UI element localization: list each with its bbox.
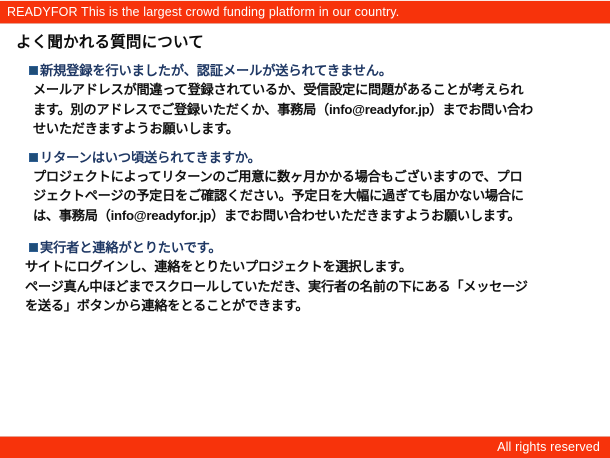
faq-answer-line: ページ真ん中ほどまでスクロールしていただき、実行者の名前の下にある「メッセージ	[25, 277, 598, 297]
faq-answer-line: サイトにログインし、連絡をとりたいプロジェクトを選択します。	[25, 257, 598, 277]
faq-answer-line: を送る」ボタンから連絡をとることができます。	[25, 296, 598, 316]
faq-answer: メールアドレスが間違って登録されているか、受信設定に問題があることが考えられます…	[0, 80, 610, 139]
faq-answer: プロジェクトによってリターンのご用意に数ヶ月かかる場合もございますので、プロジェ…	[0, 167, 610, 226]
faq-answer-line: ジェクトページの予定日をご確認ください。予定日を大幅に過ぎても届かない場合に	[33, 186, 592, 206]
top-banner-text: READYFOR This is the largest crowd fundi…	[0, 6, 399, 19]
copyright-text: All rights reserved	[497, 441, 610, 454]
faq-question: 実行者と連絡がとりたいです。	[0, 239, 610, 257]
faq-question-text: 実行者と連絡がとりたいです。	[40, 239, 222, 257]
faq-item: 実行者と連絡がとりたいです。サイトにログインし、連絡をとりたいプロジェクトを選択…	[0, 239, 610, 316]
faq-question: 新規登録を行いましたが、認証メールが送られてきません。	[0, 62, 610, 80]
faq-answer-line: は、事務局（info@readyfor.jp）までお問い合わせいただきますようお…	[33, 206, 592, 226]
page-title: よく聞かれる質問について	[16, 33, 204, 53]
faq-answer-line: ます。別のアドレスでご登録いただくか、事務局（info@readyfor.jp）…	[33, 100, 592, 120]
square-bullet-icon	[29, 153, 38, 162]
faq-item: 新規登録を行いましたが、認証メールが送られてきません。メールアドレスが間違って登…	[0, 62, 610, 139]
faq-answer-line: メールアドレスが間違って登録されているか、受信設定に問題があることが考えられ	[33, 80, 592, 100]
top-banner: READYFOR This is the largest crowd fundi…	[0, 0, 610, 24]
faq-question-text: リターンはいつ頃送られてきますか。	[40, 149, 261, 167]
faq-answer: サイトにログインし、連絡をとりたいプロジェクトを選択します。ページ真ん中ほどまで…	[0, 257, 610, 316]
faq-list: 新規登録を行いましたが、認証メールが送られてきません。メールアドレスが間違って登…	[0, 62, 610, 327]
square-bullet-icon	[29, 66, 38, 75]
bottom-banner: All rights reserved	[0, 436, 610, 458]
faq-question-text: 新規登録を行いましたが、認証メールが送られてきません。	[40, 62, 392, 80]
faq-item: リターンはいつ頃送られてきますか。プロジェクトによってリターンのご用意に数ヶ月か…	[0, 149, 610, 226]
faq-answer-line: せいただきますようお願いします。	[33, 119, 592, 139]
faq-answer-line: プロジェクトによってリターンのご用意に数ヶ月かかる場合もございますので、プロ	[33, 167, 592, 187]
square-bullet-icon	[29, 243, 38, 252]
faq-question: リターンはいつ頃送られてきますか。	[0, 149, 610, 167]
